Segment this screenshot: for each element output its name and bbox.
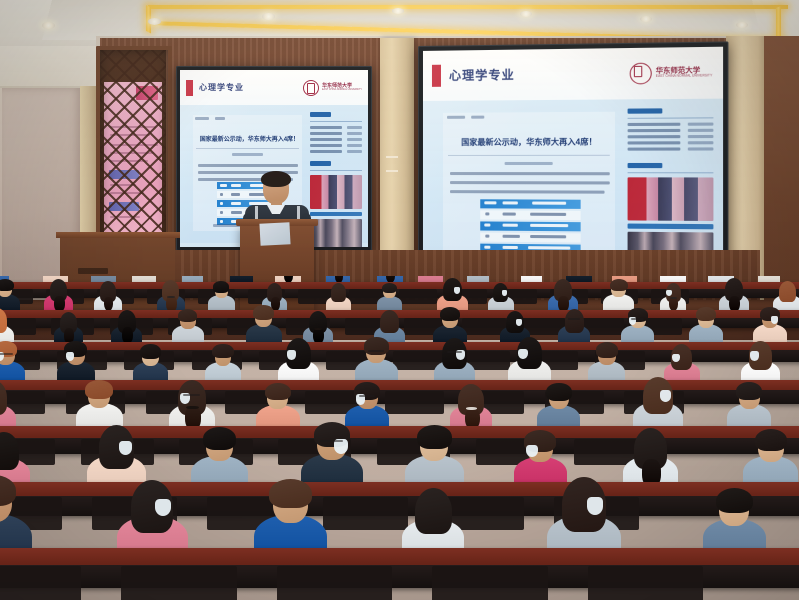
eyeglasses bbox=[183, 394, 200, 396]
audience-hair bbox=[716, 488, 753, 513]
university-seal-icon bbox=[303, 80, 319, 96]
hair-tie bbox=[314, 328, 322, 330]
seat-back[interactable] bbox=[277, 566, 392, 600]
lecture-hall-photo: 心理学专业 华东师范大学 EAST CHINA NORMAL UNIVERSIT… bbox=[0, 0, 799, 600]
audience-hair bbox=[610, 279, 628, 291]
downlight-1 bbox=[42, 22, 55, 29]
seat-back[interactable] bbox=[121, 566, 236, 600]
audience-hair bbox=[779, 281, 796, 302]
audience-hair bbox=[0, 432, 19, 470]
seat-back[interactable] bbox=[399, 289, 436, 304]
seat-back[interactable] bbox=[385, 391, 444, 414]
audience-hair bbox=[0, 380, 7, 415]
right-article-headline: 国家最新公示动，华东师大再入4席！ bbox=[453, 136, 605, 148]
audience-hair bbox=[736, 382, 762, 400]
left-article-meta bbox=[195, 117, 225, 120]
audience-hair bbox=[85, 380, 113, 399]
left-slide-sidebar bbox=[310, 112, 363, 236]
face-mask bbox=[526, 445, 538, 458]
audience-hair bbox=[415, 488, 452, 534]
downlight-6 bbox=[640, 16, 652, 22]
left-gallery-photo-1 bbox=[310, 175, 363, 209]
audience-hair bbox=[0, 475, 16, 506]
face-mask bbox=[155, 499, 171, 516]
seat-back[interactable] bbox=[588, 566, 703, 600]
audience-hair bbox=[440, 307, 460, 321]
audience-hair bbox=[0, 279, 14, 291]
eyeglasses bbox=[368, 350, 384, 352]
presenter-hair bbox=[261, 171, 291, 187]
eyeglasses bbox=[631, 318, 643, 320]
right-article-date bbox=[504, 162, 552, 165]
right-gallery-photo-1 bbox=[628, 177, 714, 221]
audience-hair bbox=[380, 310, 398, 333]
face-mask bbox=[666, 290, 672, 296]
audience-hair bbox=[565, 309, 584, 333]
eyeglasses bbox=[359, 395, 375, 397]
audience-hair bbox=[140, 344, 161, 358]
audience-hair bbox=[212, 344, 233, 358]
hair-tie bbox=[670, 297, 677, 299]
right-slide-sidebar bbox=[628, 108, 714, 272]
left-gallery-heading bbox=[310, 161, 331, 166]
audience-hair bbox=[213, 281, 229, 292]
left-article-date bbox=[232, 153, 263, 156]
right-article-block: 国家最新公示动，华东师大再入4席！ bbox=[443, 112, 615, 264]
audience-hair bbox=[265, 383, 291, 401]
right-screen-surface: 心理学专业 华东师范大学 EAST CHINA NORMAL UNIVERSIT… bbox=[423, 47, 723, 282]
audience-hair bbox=[203, 427, 236, 450]
right-slide-accent-bar bbox=[432, 65, 441, 87]
side-table-nameplate bbox=[78, 268, 108, 274]
right-gallery-heading bbox=[628, 162, 662, 167]
face-mask bbox=[587, 497, 603, 515]
audience-hair bbox=[364, 337, 389, 354]
seated-student-audience bbox=[0, 276, 799, 600]
seat-back[interactable] bbox=[0, 566, 81, 600]
left-slide-title: 心理学专业 bbox=[199, 82, 244, 93]
right-article-meta bbox=[447, 116, 484, 119]
eyeglasses bbox=[0, 353, 13, 355]
audience-hair bbox=[178, 309, 197, 322]
audience-hair bbox=[596, 342, 618, 357]
face-mask bbox=[518, 349, 527, 359]
audience-hair bbox=[382, 283, 397, 293]
audience-hair bbox=[253, 305, 274, 320]
face-mask bbox=[119, 441, 132, 455]
right-news-heading bbox=[628, 108, 662, 113]
seat-back[interactable] bbox=[432, 566, 547, 600]
downlight-3 bbox=[262, 13, 275, 20]
audience-hair bbox=[417, 425, 452, 449]
left-logo-en: EAST CHINA NORMAL UNIVERSITY bbox=[322, 89, 362, 92]
right-logo-en: EAST CHINA NORMAL UNIVERSITY bbox=[656, 75, 713, 79]
face-mask bbox=[502, 290, 508, 296]
eyeglasses bbox=[447, 351, 462, 353]
right-article-table bbox=[481, 199, 581, 256]
university-seal-icon bbox=[629, 62, 651, 84]
left-news-heading bbox=[310, 112, 331, 117]
left-slide-header: 心理学专业 华东师范大学 EAST CHINA NORMAL UNIVERSIT… bbox=[180, 70, 368, 105]
audience-hair bbox=[331, 283, 346, 302]
seat-back[interactable] bbox=[323, 497, 409, 529]
downlight-4 bbox=[392, 8, 404, 14]
downlight-5 bbox=[520, 11, 532, 17]
side-table-top bbox=[56, 232, 180, 238]
left-university-logo: 华东师范大学 EAST CHINA NORMAL UNIVERSITY bbox=[303, 80, 362, 96]
downlight-7 bbox=[736, 22, 748, 28]
audience-hair bbox=[696, 307, 716, 321]
left-slide-accent-bar bbox=[186, 80, 193, 96]
left-wall-header-band bbox=[0, 46, 110, 88]
right-slide-title: 心理学专业 bbox=[449, 66, 515, 84]
face-mask bbox=[750, 351, 759, 360]
cove-light-strip-top bbox=[148, 5, 788, 9]
face-mask bbox=[66, 352, 74, 361]
podium-papers bbox=[259, 222, 290, 246]
right-slide-header: 心理学专业 华东师范大学 EAST CHINA NORMAL UNIVERSIT… bbox=[423, 47, 723, 101]
right-university-logo: 华东师范大学 EAST CHINA NORMAL UNIVERSITY bbox=[629, 62, 712, 85]
audience-hair bbox=[0, 308, 7, 333]
left-article-headline: 国家最新公示动，华东师大再入4席！ bbox=[200, 134, 296, 143]
audience-hair bbox=[546, 383, 571, 400]
downlight-2 bbox=[148, 18, 161, 25]
audience-hair bbox=[755, 429, 787, 451]
audience-hair bbox=[269, 479, 312, 508]
